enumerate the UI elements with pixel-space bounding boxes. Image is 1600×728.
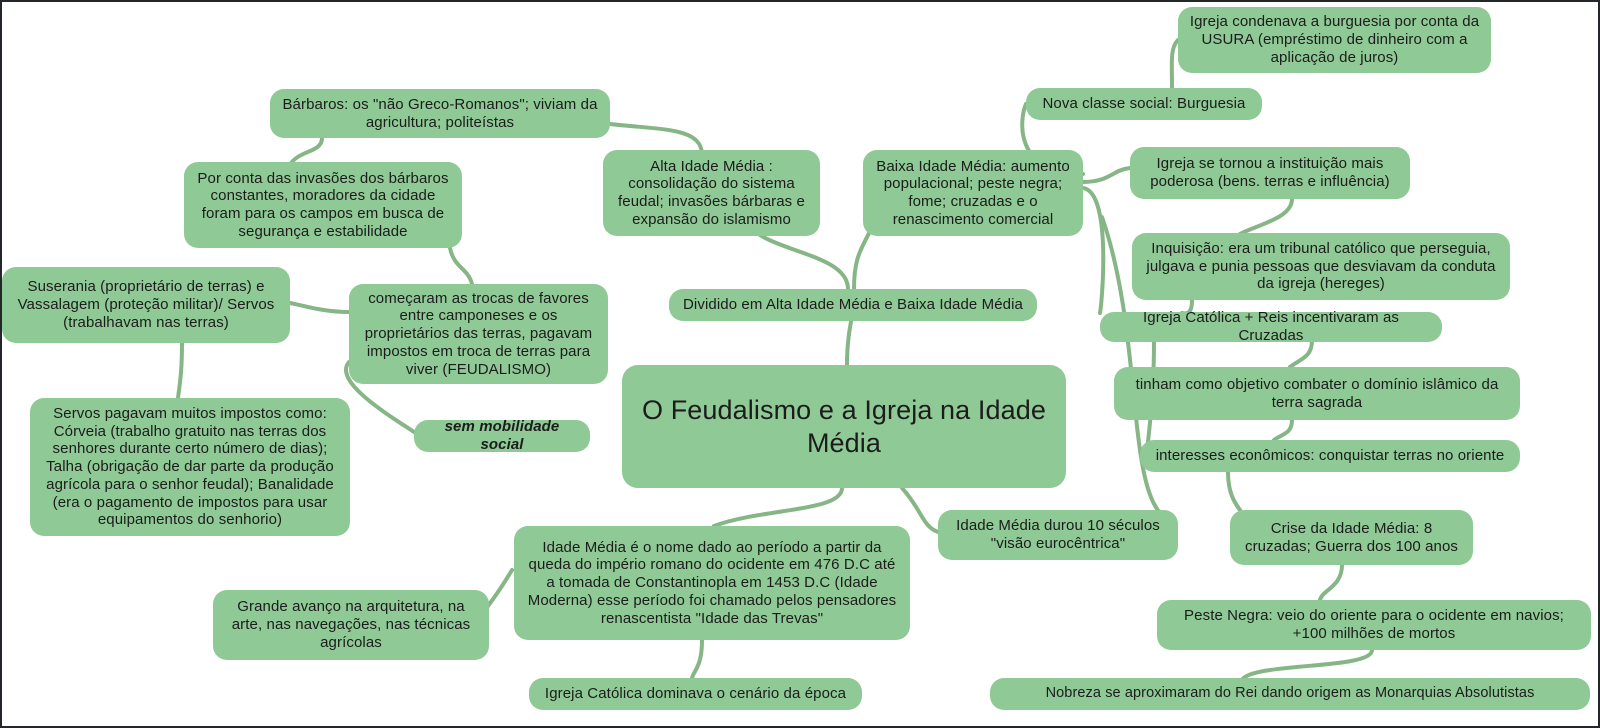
node-usura[interactable]: Igreja condenava a burguesia por conta d… (1178, 7, 1491, 73)
edge-central-dividido (847, 316, 852, 365)
edge-barbaros-invasoes (292, 138, 322, 162)
node-nobreza-monarquias-label: Nobreza se aproximaram do Rei dando orig… (1046, 685, 1535, 702)
edge-invasoes-trocas (450, 248, 472, 284)
node-nova-classe-burguesia-label: Nova classe social: Burguesia (1043, 95, 1246, 113)
node-suserania-vassalagem[interactable]: Suserania (proprietário de terras) e Vas… (2, 267, 290, 343)
node-definicao-idade-media-label: Idade Média é o nome dado ao período a p… (524, 539, 900, 627)
node-peste-negra[interactable]: Peste Negra: veio do oriente para o ocid… (1157, 600, 1591, 650)
node-inquisicao-label: Inquisição: era um tribunal católico que… (1142, 240, 1500, 293)
node-sem-mobilidade-social-label: sem mobilidade social (424, 418, 580, 453)
node-igreja-reis-cruzadas-label: Igreja Católica + Reis incentivaram as C… (1110, 309, 1432, 344)
central-node[interactable]: O Feudalismo e a Igreja na Idade Média (622, 365, 1066, 488)
node-barbaros-label: Bárbaros: os "não Greco-Romanos"; viviam… (280, 96, 600, 131)
node-baixa-idade-media-label: Baixa Idade Média: aumento populacional;… (873, 158, 1073, 229)
node-definicao-idade-media[interactable]: Idade Média é o nome dado ao período a p… (514, 526, 910, 640)
node-igreja-instituicao-poderosa-label: Igreja se tornou a instituição mais pode… (1140, 155, 1400, 190)
node-igreja-dominava[interactable]: Igreja Católica dominava o cenário da ép… (529, 678, 862, 710)
node-invasoes-barbaros-label: Por conta das invasões dos bárbaros cons… (194, 170, 452, 241)
edge-central-definicao (714, 488, 842, 526)
node-crise-idade-media[interactable]: Crise da Idade Média: 8 cruzadas; Guerra… (1230, 510, 1473, 565)
central-node-label: O Feudalismo e a Igreja na Idade Média (632, 394, 1056, 460)
node-dez-seculos[interactable]: Idade Média durou 10 séculos "visão euro… (938, 510, 1178, 560)
node-invasoes-barbaros[interactable]: Por conta das invasões dos bárbaros cons… (184, 162, 462, 248)
node-suserania-vassalagem-label: Suserania (proprietário de terras) e Vas… (12, 278, 280, 331)
node-interesses-economicos[interactable]: interesses econômicos: conquistar terras… (1140, 440, 1520, 472)
node-dividido-alta-baixa-label: Dividido em Alta Idade Média e Baixa Ida… (683, 296, 1023, 314)
edge-interesses-crise (1228, 472, 1240, 510)
node-trocas-favores[interactable]: começaram as trocas de favores entre cam… (349, 284, 608, 384)
node-sem-mobilidade-social[interactable]: sem mobilidade social (414, 420, 590, 452)
edge-crise-peste (1320, 565, 1342, 600)
node-barbaros[interactable]: Bárbaros: os "não Greco-Romanos"; viviam… (270, 89, 610, 138)
edge-objetivo-interesses (1274, 420, 1292, 440)
node-igreja-instituicao-poderosa[interactable]: Igreja se tornou a instituição mais pode… (1130, 147, 1410, 199)
node-objetivo-cruzadas[interactable]: tinham como objetivo combater o domínio … (1114, 367, 1520, 420)
edge-trocas-suserania (290, 303, 349, 312)
edge-peste-nobreza (1242, 650, 1372, 680)
node-grande-avanco[interactable]: Grande avanço na arquitetura, na arte, n… (213, 590, 489, 660)
node-crise-idade-media-label: Crise da Idade Média: 8 cruzadas; Guerra… (1240, 520, 1463, 555)
edge-baixa-cruzadas (1083, 188, 1103, 313)
edge-definicao-igrejadominava (692, 640, 702, 678)
node-dez-seculos-label: Idade Média durou 10 séculos "visão euro… (948, 517, 1168, 552)
edge-baixa-igrejapoderosa (1083, 168, 1130, 182)
node-alta-idade-media-label: Alta Idade Média : consolidação do siste… (613, 158, 810, 229)
node-alta-idade-media[interactable]: Alta Idade Média : consolidação do siste… (603, 150, 820, 236)
node-servos-impostos[interactable]: Servos pagavam muitos impostos como: Cór… (30, 398, 350, 536)
node-usura-label: Igreja condenava a burguesia por conta d… (1188, 13, 1481, 66)
edge-definicao-avanco (488, 570, 512, 606)
node-trocas-favores-label: começaram as trocas de favores entre cam… (359, 290, 598, 378)
node-igreja-dominava-label: Igreja Católica dominava o cenário da ép… (545, 685, 846, 703)
node-igreja-reis-cruzadas[interactable]: Igreja Católica + Reis incentivaram as C… (1100, 312, 1442, 342)
node-servos-impostos-label: Servos pagavam muitos impostos como: Cór… (40, 405, 340, 529)
node-interesses-economicos-label: interesses econômicos: conquistar terras… (1156, 447, 1505, 465)
node-peste-negra-label: Peste Negra: veio do oriente para o ocid… (1167, 607, 1581, 642)
edge-central-dezseculos (902, 488, 938, 532)
node-baixa-idade-media[interactable]: Baixa Idade Média: aumento populacional;… (863, 150, 1083, 236)
node-nova-classe-burguesia[interactable]: Nova classe social: Burguesia (1026, 88, 1262, 120)
node-dividido-alta-baixa[interactable]: Dividido em Alta Idade Média e Baixa Ida… (669, 289, 1037, 321)
node-nobreza-monarquias[interactable]: Nobreza se aproximaram do Rei dando orig… (990, 678, 1590, 710)
node-objetivo-cruzadas-label: tinham como objetivo combater o domínio … (1124, 376, 1510, 411)
node-inquisicao[interactable]: Inquisição: era um tribunal católico que… (1132, 233, 1510, 300)
edge-suserania-servos (178, 342, 182, 398)
node-grande-avanco-label: Grande avanço na arquitetura, na arte, n… (223, 598, 479, 651)
mindmap-canvas: O Feudalismo e a Igreja na Idade Média B… (0, 0, 1600, 728)
